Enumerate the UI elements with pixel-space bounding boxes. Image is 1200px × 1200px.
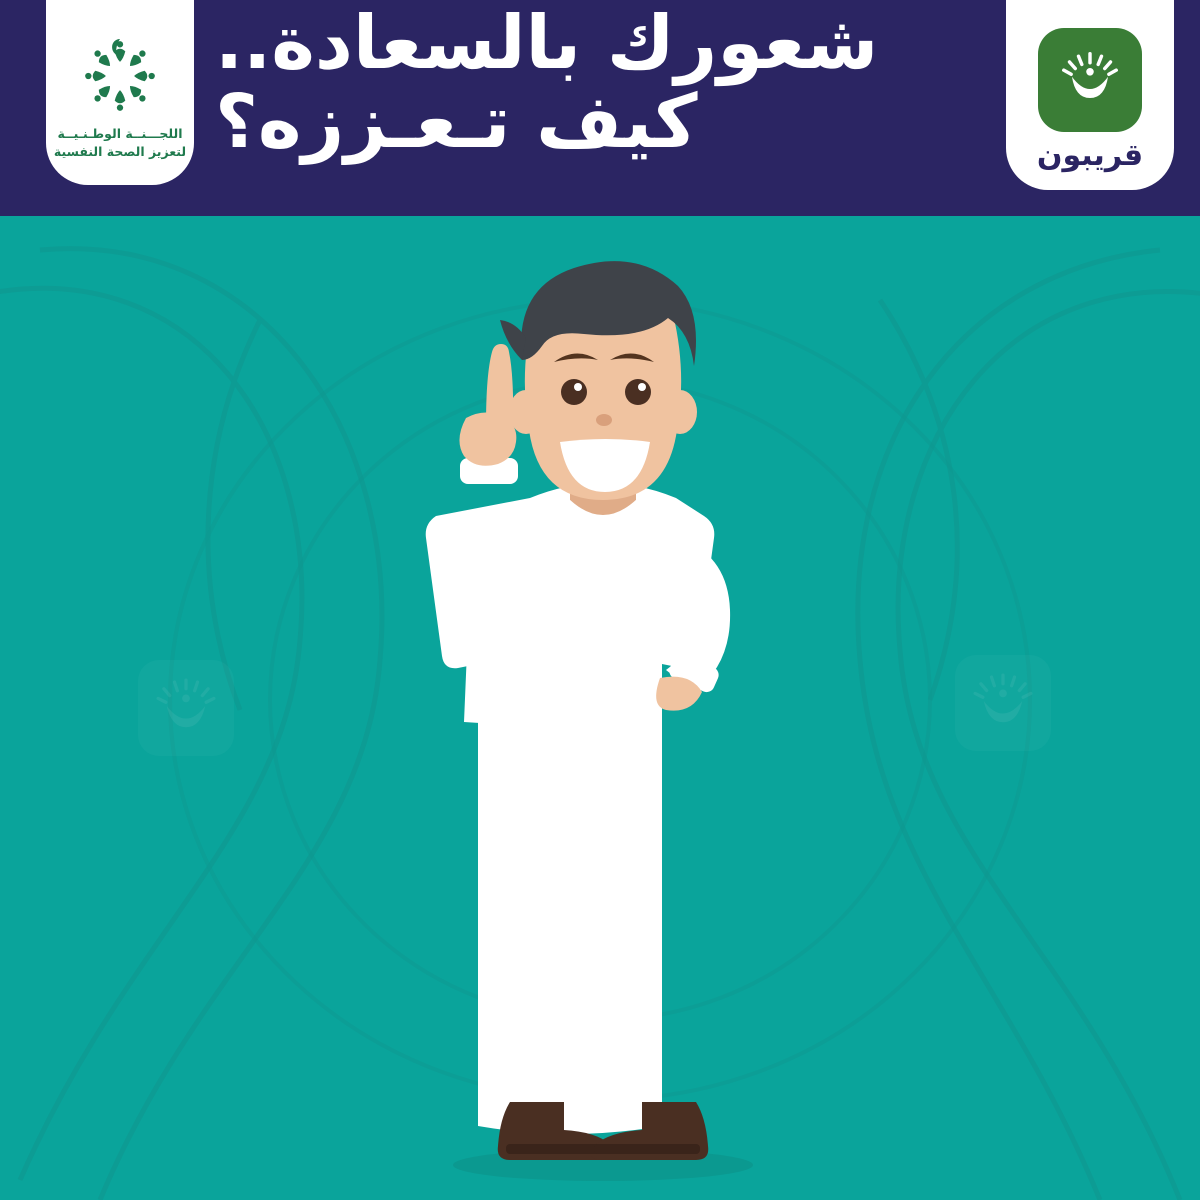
qareeboon-watermark-right xyxy=(955,655,1051,751)
logo-line-1: اللجـــنــة الوطـنـيــة xyxy=(58,126,183,141)
national-committee-mental-health-logo xyxy=(76,32,164,120)
qareeboon-watermark-left xyxy=(138,660,234,756)
qareeboon-app-icon xyxy=(1038,28,1142,132)
title-line-1: شعورك بالسعادة.. xyxy=(215,6,985,81)
logo-line-2: لتعزيز الصحة النفسية xyxy=(54,144,186,159)
qareeboon-logo-card: قريبون xyxy=(1006,0,1174,190)
qareeboon-glyph xyxy=(1049,39,1131,121)
national-committee-logo-card: اللجـــنــة الوطـنـيــة لتعزيز الصحة الن… xyxy=(46,0,194,185)
qareeboon-label: قريبون xyxy=(1037,138,1143,173)
title-line-2: كيف تـعـززه؟ xyxy=(215,85,985,160)
infographic-root: اللجـــنــة الوطـنـيــة لتعزيز الصحة الن… xyxy=(0,0,1200,1200)
smiling-man-pointing-up-illustration xyxy=(398,240,808,1200)
page-title: شعورك بالسعادة.. كيف تـعـززه؟ xyxy=(215,6,985,161)
header-bar: اللجـــنــة الوطـنـيــة لتعزيز الصحة الن… xyxy=(0,0,1200,216)
